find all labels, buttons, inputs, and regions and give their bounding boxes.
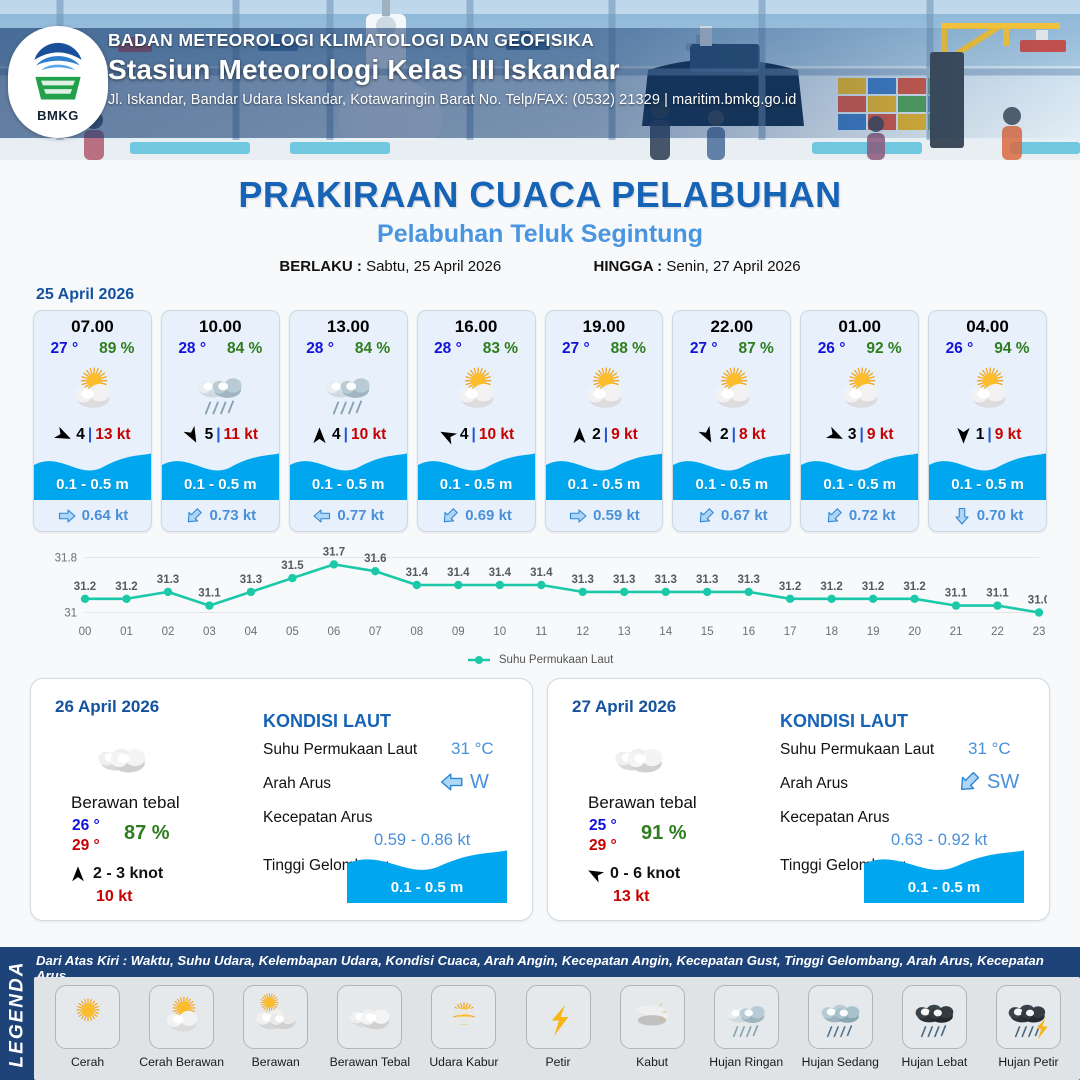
panel-wave-value: 0.1 - 0.5 m <box>864 879 1024 896</box>
hourly-forecast-cards: 07.00 27 ° 89 % 4 | 13 kt 0.1 - 0.5 m <box>0 304 1080 532</box>
svg-text:31.1: 31.1 <box>986 588 1009 600</box>
svg-text:31: 31 <box>64 608 77 620</box>
cerah-berawan-icon <box>149 985 214 1049</box>
card-time: 07.00 <box>34 311 151 337</box>
card-wind-speed: 4 <box>76 426 85 444</box>
card-wind-separator: | <box>604 426 608 444</box>
panel-temp-max: 29 ° <box>589 837 617 855</box>
card-current-speed: 0.70 kt <box>977 507 1024 524</box>
panel-current-speed-label: Kecepatan Arus <box>263 809 372 827</box>
forecast-card[interactable]: 16.00 28 ° 83 % 4 | 10 kt 0.1 - 0.5 m <box>417 310 536 532</box>
current-direction-arrow-icon <box>57 506 77 526</box>
cerah-berawan-icon <box>546 360 663 422</box>
svg-text:31.4: 31.4 <box>489 567 512 579</box>
svg-text:31.2: 31.2 <box>903 581 925 593</box>
card-current-speed: 0.77 kt <box>337 507 384 524</box>
panel-condition: Berawan tebal <box>71 793 180 813</box>
card-wind-speed: 4 <box>332 426 341 444</box>
panel-wind-range: 0 - 6 knot <box>610 865 680 883</box>
card-wave-height: 0.1 - 0.5 m <box>801 476 918 493</box>
card-temp-humidity: 27 ° 89 % <box>34 337 151 358</box>
card-time: 13.00 <box>290 311 407 337</box>
card-wave-band: 0.1 - 0.5 m <box>546 450 663 500</box>
card-wind-speed: 2 <box>592 426 601 444</box>
forecast-day-label: 25 April 2026 <box>36 286 1080 304</box>
legend-section: LEGENDA Dari Atas Kiri : Waktu, Suhu Uda… <box>0 947 1080 1080</box>
card-wave-band: 0.1 - 0.5 m <box>34 450 151 500</box>
legend-item[interactable]: Hujan Petir <box>983 985 1074 1069</box>
svg-text:31.3: 31.3 <box>696 574 718 586</box>
wind-direction-arrow-icon <box>586 865 604 883</box>
svg-text:31.5: 31.5 <box>281 560 304 572</box>
daily-forecast-panels: 26 April 2026 Berawan tebal 26 ° 29 ° 87… <box>0 666 1080 921</box>
card-gust: 9 kt <box>995 426 1022 444</box>
current-direction-arrow-icon <box>439 769 465 795</box>
svg-text:31.3: 31.3 <box>738 574 760 586</box>
svg-text:12: 12 <box>576 626 589 638</box>
card-wave-height: 0.1 - 0.5 m <box>929 476 1046 493</box>
panel-wave-value: 0.1 - 0.5 m <box>347 879 507 896</box>
card-wind-row: 4 | 10 kt <box>290 422 407 448</box>
svg-text:05: 05 <box>286 626 299 638</box>
legend-item[interactable]: Cerah Berawan <box>136 985 227 1069</box>
svg-text:31.3: 31.3 <box>157 574 179 586</box>
card-temperature: 27 ° <box>562 340 590 358</box>
panel-humidity: 91 % <box>641 822 687 845</box>
header-text-block: BADAN METEOROLOGI KLIMATOLOGI DAN GEOFIS… <box>108 30 796 108</box>
current-direction-arrow-icon <box>184 506 204 526</box>
legend-item-label: Hujan Petir <box>983 1055 1074 1069</box>
panel-sea-title: KONDISI LAUT <box>263 711 391 732</box>
panel-wind-range: 2 - 3 knot <box>93 865 163 883</box>
card-humidity: 87 % <box>738 340 773 358</box>
svg-text:08: 08 <box>410 626 423 638</box>
card-wave-band: 0.1 - 0.5 m <box>801 450 918 500</box>
legend-item[interactable]: Cerah <box>42 985 133 1069</box>
svg-text:15: 15 <box>701 626 714 638</box>
legend-item-label: Hujan Sedang <box>795 1055 886 1069</box>
cerah-berawan-icon <box>34 360 151 422</box>
station-address: Jl. Iskandar, Bandar Udara Iskandar, Kot… <box>108 92 796 108</box>
wind-direction-arrow-icon <box>69 865 87 883</box>
svg-text:31.8: 31.8 <box>55 553 77 565</box>
panel-wave-band: 0.1 - 0.5 m <box>864 847 1024 903</box>
udara-kabur-icon <box>431 985 496 1049</box>
wind-direction-arrow-icon <box>570 426 589 445</box>
forecast-card[interactable]: 01.00 26 ° 92 % 3 | 9 kt 0.1 - 0.5 m <box>800 310 919 532</box>
svg-text:31.7: 31.7 <box>323 546 345 558</box>
card-wind-row: 1 | 9 kt <box>929 422 1046 448</box>
panel-date: 27 April 2026 <box>572 697 676 717</box>
cerah-berawan-icon <box>801 360 918 422</box>
berlaku-value: Sabtu, 25 April 2026 <box>366 258 501 275</box>
svg-text:06: 06 <box>328 626 341 638</box>
card-time: 19.00 <box>546 311 663 337</box>
legend-item[interactable]: Hujan Ringan <box>701 985 792 1069</box>
cerah-berawan-icon <box>673 360 790 422</box>
card-temp-humidity: 28 ° 84 % <box>290 337 407 358</box>
hujan-ringan-icon <box>162 360 279 422</box>
card-temp-humidity: 28 ° 83 % <box>418 337 535 358</box>
bmkg-logo-mark <box>29 41 87 107</box>
panel-gust: 13 kt <box>613 888 649 906</box>
card-temp-humidity: 28 ° 84 % <box>162 337 279 358</box>
svg-text:07: 07 <box>369 626 382 638</box>
panel-sst-value: 31 °C <box>451 739 494 759</box>
current-direction-arrow-icon <box>440 506 460 526</box>
legend-item-label: Berawan Tebal <box>324 1055 415 1069</box>
panel-current-dir-label: Arah Arus <box>263 775 331 793</box>
svg-text:19: 19 <box>867 626 880 638</box>
legend-item-label: Udara Kabur <box>418 1055 509 1069</box>
card-wind-separator: | <box>472 426 476 444</box>
current-direction-arrow-icon <box>824 506 844 526</box>
card-wind-separator: | <box>987 426 991 444</box>
berlaku-label: BERLAKU : <box>279 258 362 275</box>
card-wind-separator: | <box>216 426 220 444</box>
card-humidity: 84 % <box>227 340 262 358</box>
panel-wind-row: 2 - 3 knot <box>69 865 163 883</box>
petir-icon <box>526 985 591 1049</box>
svg-text:23: 23 <box>1033 626 1046 638</box>
wind-direction-arrow-icon <box>954 426 973 445</box>
page-title: PRAKIRAAN CUACA PELABUHAN <box>0 174 1080 216</box>
current-direction-arrow-icon <box>696 506 716 526</box>
card-wind-separator: | <box>88 426 92 444</box>
svg-text:20: 20 <box>908 626 921 638</box>
wind-direction-arrow-icon <box>698 426 717 445</box>
card-wave-height: 0.1 - 0.5 m <box>290 476 407 493</box>
svg-text:14: 14 <box>659 626 672 638</box>
panel-current-speed-label: Kecepatan Arus <box>780 809 889 827</box>
bmkg-logo: BMKG <box>8 26 108 138</box>
legend-item[interactable]: Berawan Tebal <box>324 985 415 1069</box>
card-wave-band: 0.1 - 0.5 m <box>673 450 790 500</box>
svg-text:10: 10 <box>493 626 506 638</box>
svg-text:31.3: 31.3 <box>655 574 677 586</box>
card-temp-humidity: 26 ° 94 % <box>929 337 1046 358</box>
panel-temp-min: 26 ° <box>72 817 100 835</box>
svg-text:13: 13 <box>618 626 631 638</box>
panel-current-dir-value-row: SW <box>956 769 1019 795</box>
legend-item-label: Petir <box>512 1055 603 1069</box>
svg-text:31.2: 31.2 <box>779 581 801 593</box>
card-time: 10.00 <box>162 311 279 337</box>
card-temp-humidity: 27 ° 88 % <box>546 337 663 358</box>
card-wind-speed: 4 <box>460 426 469 444</box>
hujan-sedang-icon <box>808 985 873 1049</box>
svg-text:04: 04 <box>245 626 258 638</box>
card-humidity: 94 % <box>994 340 1029 358</box>
legend-item-label: Hujan Lebat <box>889 1055 980 1069</box>
station-name: Stasiun Meteorologi Kelas III Iskandar <box>108 54 796 86</box>
card-wind-row: 4 | 13 kt <box>34 422 151 448</box>
svg-text:31.4: 31.4 <box>447 567 470 579</box>
card-wave-band: 0.1 - 0.5 m <box>418 450 535 500</box>
current-direction-arrow-icon <box>568 506 588 526</box>
legend-side-title: LEGENDA <box>0 947 34 1080</box>
legend-item-label: Cerah Berawan <box>136 1055 227 1069</box>
svg-text:31.1: 31.1 <box>198 588 221 600</box>
legend-item[interactable]: Berawan <box>230 985 321 1069</box>
svg-text:00: 00 <box>79 626 92 638</box>
wind-direction-arrow-icon <box>183 426 202 445</box>
wind-direction-arrow-icon <box>310 426 329 445</box>
panel-current-dir-value: SW <box>987 771 1019 794</box>
daily-forecast-panel[interactable]: 27 April 2026 Berawan tebal 25 ° 29 ° 91… <box>547 678 1050 921</box>
svg-text:31.4: 31.4 <box>530 567 553 579</box>
hujan-lebat-icon <box>902 985 967 1049</box>
wind-direction-arrow-icon <box>826 426 845 445</box>
wind-direction-arrow-icon <box>438 426 457 445</box>
card-current-speed: 0.59 kt <box>593 507 640 524</box>
card-temp-humidity: 26 ° 92 % <box>801 337 918 358</box>
chart-legend-swatch-icon <box>467 654 491 666</box>
current-direction-arrow-icon <box>312 506 332 526</box>
card-gust: 10 kt <box>479 426 514 444</box>
sst-chart: 3131.831.20031.20131.30231.10331.30431.5… <box>33 542 1047 652</box>
chart-legend-label: Suhu Permukaan Laut <box>499 654 613 666</box>
card-wind-row: 4 | 10 kt <box>418 422 535 448</box>
card-wave-band: 0.1 - 0.5 m <box>162 450 279 500</box>
cerah-berawan-icon <box>418 360 535 422</box>
panel-sst-label: Suhu Permukaan Laut <box>780 741 934 759</box>
card-humidity: 89 % <box>99 340 134 358</box>
berawan-tebal-icon <box>91 727 153 794</box>
panel-sea-title: KONDISI LAUT <box>780 711 908 732</box>
page-header: BMKG BADAN METEOROLOGI KLIMATOLOGI DAN G… <box>0 0 1080 160</box>
card-wave-band: 0.1 - 0.5 m <box>290 450 407 500</box>
wind-direction-arrow-icon <box>54 426 73 445</box>
daily-forecast-panel[interactable]: 26 April 2026 Berawan tebal 26 ° 29 ° 87… <box>30 678 533 921</box>
legend-item-label: Kabut <box>607 1055 698 1069</box>
panel-current-dir-label: Arah Arus <box>780 775 848 793</box>
card-current-speed: 0.73 kt <box>209 507 256 524</box>
svg-text:31.3: 31.3 <box>240 574 262 586</box>
svg-text:31.2: 31.2 <box>820 581 842 593</box>
current-direction-arrow-icon <box>956 769 982 795</box>
svg-text:16: 16 <box>742 626 755 638</box>
card-wind-row: 2 | 8 kt <box>673 422 790 448</box>
card-humidity: 84 % <box>355 340 390 358</box>
berawan-icon <box>243 985 308 1049</box>
card-time: 04.00 <box>929 311 1046 337</box>
panel-humidity: 87 % <box>124 822 170 845</box>
panel-sst-value: 31 °C <box>968 739 1011 759</box>
svg-text:02: 02 <box>162 626 175 638</box>
legend-item-label: Hujan Ringan <box>701 1055 792 1069</box>
panel-condition: Berawan tebal <box>588 793 697 813</box>
card-current-row: 0.67 kt <box>673 500 790 531</box>
card-gust: 10 kt <box>351 426 386 444</box>
cerah-icon <box>55 985 120 1049</box>
agency-name: BADAN METEOROLOGI KLIMATOLOGI DAN GEOFIS… <box>108 30 796 51</box>
card-temperature: 27 ° <box>690 340 718 358</box>
card-wave-height: 0.1 - 0.5 m <box>418 476 535 493</box>
svg-text:18: 18 <box>825 626 838 638</box>
forecast-card[interactable]: 13.00 28 ° 84 % 4 | 10 kt 0.1 <box>289 310 408 532</box>
validity-row: BERLAKU : Sabtu, 25 April 2026 HINGGA : … <box>0 258 1080 275</box>
card-temperature: 27 ° <box>50 340 78 358</box>
current-direction-arrow-icon <box>952 506 972 526</box>
forecast-card[interactable]: 07.00 27 ° 89 % 4 | 13 kt 0.1 - 0.5 m <box>33 310 152 532</box>
legend-item[interactable]: Hujan Lebat <box>889 985 980 1069</box>
card-current-row: 0.59 kt <box>546 500 663 531</box>
berawan-tebal-icon <box>337 985 402 1049</box>
legend-item[interactable]: Kabut <box>607 985 698 1069</box>
card-wave-height: 0.1 - 0.5 m <box>34 476 151 493</box>
svg-text:22: 22 <box>991 626 1004 638</box>
sst-chart-svg: 3131.831.20031.20131.30231.10331.30431.5… <box>33 542 1047 652</box>
card-gust: 8 kt <box>739 426 766 444</box>
card-current-row: 0.72 kt <box>801 500 918 531</box>
hujan-ringan-icon <box>714 985 779 1049</box>
card-time: 22.00 <box>673 311 790 337</box>
panel-current-dir-value-row: W <box>439 769 489 795</box>
page-subtitle: Pelabuhan Teluk Segintung <box>0 220 1080 249</box>
panel-temp-max: 29 ° <box>72 837 100 855</box>
card-current-row: 0.69 kt <box>418 500 535 531</box>
card-current-speed: 0.67 kt <box>721 507 768 524</box>
card-wind-separator: | <box>859 426 863 444</box>
card-temperature: 28 ° <box>306 340 334 358</box>
panel-temp-min: 25 ° <box>589 817 617 835</box>
card-humidity: 88 % <box>611 340 646 358</box>
forecast-card[interactable]: 04.00 26 ° 94 % 1 | 9 kt 0.1 - 0.5 m <box>928 310 1047 532</box>
svg-text:31.6: 31.6 <box>364 553 386 565</box>
bmkg-logo-text: BMKG <box>37 108 79 123</box>
svg-text:31.3: 31.3 <box>572 574 594 586</box>
card-temperature: 28 ° <box>434 340 462 358</box>
card-current-speed: 0.64 kt <box>82 507 129 524</box>
forecast-card[interactable]: 22.00 27 ° 87 % 2 | 8 kt 0.1 - 0.5 m <box>672 310 791 532</box>
card-gust: 13 kt <box>95 426 130 444</box>
chart-legend: Suhu Permukaan Laut <box>0 654 1080 666</box>
card-current-row: 0.70 kt <box>929 500 1046 531</box>
panel-wind-row: 0 - 6 knot <box>586 865 680 883</box>
card-wave-height: 0.1 - 0.5 m <box>546 476 663 493</box>
card-wave-band: 0.1 - 0.5 m <box>929 450 1046 500</box>
hujan-petir-icon <box>996 985 1061 1049</box>
legend-item[interactable]: Petir <box>512 985 603 1069</box>
card-wind-speed: 1 <box>976 426 985 444</box>
card-current-row: 0.64 kt <box>34 500 151 531</box>
hujan-ringan-icon <box>290 360 407 422</box>
svg-text:31.2: 31.2 <box>115 581 137 593</box>
panel-date: 26 April 2026 <box>55 697 159 717</box>
card-wind-row: 5 | 11 kt <box>162 422 279 448</box>
card-current-row: 0.77 kt <box>290 500 407 531</box>
panel-current-dir-value: W <box>470 771 489 794</box>
card-gust: 9 kt <box>611 426 638 444</box>
cerah-berawan-icon <box>929 360 1046 422</box>
card-time: 16.00 <box>418 311 535 337</box>
card-wind-row: 3 | 9 kt <box>801 422 918 448</box>
card-wind-speed: 5 <box>205 426 214 444</box>
hingga-value: Senin, 27 April 2026 <box>666 258 800 275</box>
legend-item-label: Cerah <box>42 1055 133 1069</box>
svg-text:11: 11 <box>535 626 547 638</box>
card-wind-speed: 3 <box>848 426 857 444</box>
card-current-speed: 0.72 kt <box>849 507 896 524</box>
card-current-speed: 0.69 kt <box>465 507 512 524</box>
card-wind-row: 2 | 9 kt <box>546 422 663 448</box>
card-wave-height: 0.1 - 0.5 m <box>673 476 790 493</box>
svg-text:31.0: 31.0 <box>1028 595 1047 607</box>
svg-text:31.4: 31.4 <box>406 567 429 579</box>
panel-gust: 10 kt <box>96 888 132 906</box>
card-wind-separator: | <box>732 426 736 444</box>
hingga-label: HINGGA : <box>594 258 663 275</box>
card-current-row: 0.73 kt <box>162 500 279 531</box>
forecast-card[interactable]: 19.00 27 ° 88 % 2 | 9 kt 0.1 - 0.5 m <box>545 310 664 532</box>
card-time: 01.00 <box>801 311 918 337</box>
legend-item[interactable]: Hujan Sedang <box>795 985 886 1069</box>
card-gust: 9 kt <box>867 426 894 444</box>
card-temp-humidity: 27 ° 87 % <box>673 337 790 358</box>
card-temperature: 26 ° <box>818 340 846 358</box>
legend-side-title-text: LEGENDA <box>6 960 28 1067</box>
panel-sst-label: Suhu Permukaan Laut <box>263 741 417 759</box>
svg-text:31.2: 31.2 <box>74 581 96 593</box>
card-gust: 11 kt <box>224 426 258 444</box>
svg-text:17: 17 <box>784 626 797 638</box>
svg-text:09: 09 <box>452 626 465 638</box>
svg-text:01: 01 <box>120 626 133 638</box>
svg-text:31.3: 31.3 <box>613 574 635 586</box>
card-wind-speed: 2 <box>720 426 729 444</box>
kabut-icon <box>620 985 685 1049</box>
card-temperature: 26 ° <box>946 340 974 358</box>
svg-text:31.1: 31.1 <box>945 588 968 600</box>
card-humidity: 92 % <box>866 340 901 358</box>
panel-wave-band: 0.1 - 0.5 m <box>347 847 507 903</box>
svg-text:21: 21 <box>950 626 963 638</box>
svg-text:03: 03 <box>203 626 216 638</box>
title-section: PRAKIRAAN CUACA PELABUHAN Pelabuhan Telu… <box>0 160 1080 275</box>
card-temperature: 28 ° <box>178 340 206 358</box>
card-wind-separator: | <box>344 426 348 444</box>
card-humidity: 83 % <box>483 340 518 358</box>
svg-text:31.2: 31.2 <box>862 581 884 593</box>
legend-items: Cerah Cerah Berawan <box>34 977 1080 1080</box>
legend-item-label: Berawan <box>230 1055 321 1069</box>
card-wave-height: 0.1 - 0.5 m <box>162 476 279 493</box>
legend-item[interactable]: Udara Kabur <box>418 985 509 1069</box>
berawan-tebal-icon <box>608 727 670 794</box>
forecast-card[interactable]: 10.00 28 ° 84 % 5 | 11 kt 0.1 <box>161 310 280 532</box>
